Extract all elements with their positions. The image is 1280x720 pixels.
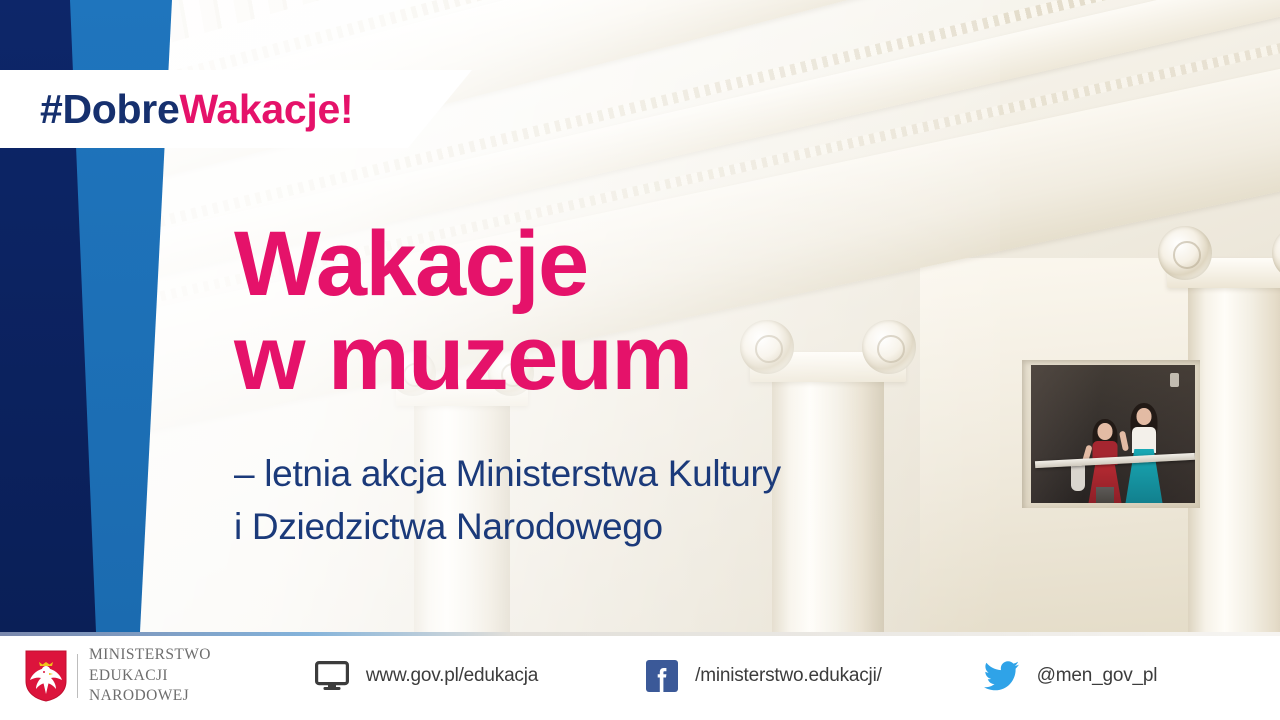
volute-icon — [1158, 226, 1212, 280]
facebook-icon — [646, 660, 678, 692]
website-label: www.gov.pl/edukacja — [366, 665, 538, 687]
footer-item-website[interactable]: www.gov.pl/edukacja — [315, 661, 538, 691]
footer-divider — [0, 632, 1280, 636]
hashtag-banner: #DobreWakacje! — [0, 70, 472, 148]
hashtag-text: #DobreWakacje! — [40, 86, 353, 133]
footer-item-facebook[interactable]: /ministerstwo.edukacji/ — [646, 660, 882, 692]
figure-head — [1137, 408, 1152, 425]
hashtag-prefix: #Dobre — [40, 86, 179, 132]
hashtag-suffix: Wakacje! — [179, 86, 353, 132]
polish-eagle-crest-icon — [24, 649, 68, 703]
footer-item-twitter[interactable]: @men_gov_pl — [984, 661, 1158, 691]
footer-bar: MINISTERSTWO EDUKACJI NARODOWEJ www.gov.… — [0, 632, 1280, 720]
page-subtitle: – letnia akcja Ministerstwa Kultury i Dz… — [234, 448, 781, 553]
facebook-label: /ministerstwo.edukacji/ — [695, 665, 882, 687]
inset-photo-visitors — [1031, 365, 1195, 503]
spotlight-icon — [1170, 373, 1179, 387]
page-title: Wakacje w muzeum — [234, 218, 692, 406]
column-shaft — [1188, 282, 1280, 632]
poster-canvas: #DobreWakacje! Wakacje w muzeum – letnia… — [0, 0, 1280, 720]
logo-divider — [77, 654, 78, 698]
monitor-icon — [315, 661, 349, 691]
twitter-icon — [984, 661, 1020, 691]
visitor-figure — [1123, 383, 1165, 503]
ministry-name: MINISTERSTWO EDUKACJI NARODOWEJ — [89, 645, 211, 707]
figure-legs — [1096, 487, 1114, 503]
inset-photo-frame — [1022, 360, 1200, 508]
twitter-label: @men_gov_pl — [1037, 665, 1158, 687]
visitor-figure — [1085, 391, 1125, 503]
figure-head — [1098, 423, 1113, 440]
ministry-logo: MINISTERSTWO EDUKACJI NARODOWEJ — [24, 645, 211, 707]
